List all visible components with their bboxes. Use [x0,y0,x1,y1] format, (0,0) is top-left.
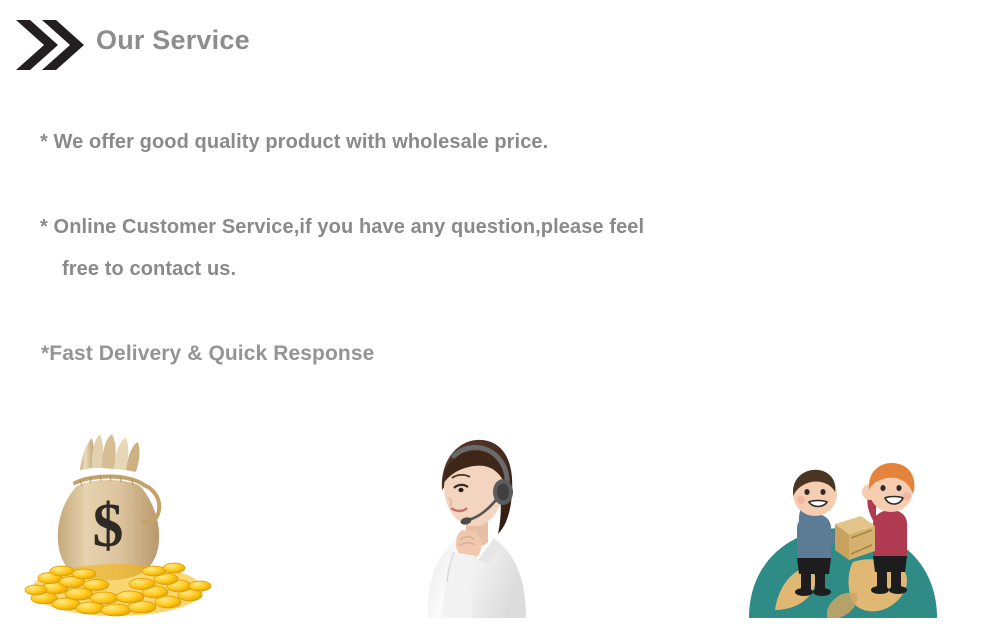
service-bullet-support-line2: free to contact us. [62,258,236,281]
double-chevron-right-icon [14,14,84,76]
gold-coin-pile [25,563,211,616]
service-bullet-quality: * We offer good quality product with who… [40,131,548,154]
customer-service-agent-image [410,426,530,618]
bag-neck [80,434,139,472]
our-service-panel: Our Service * We offer good quality prod… [0,0,1000,624]
global-delivery-illustration-image [735,450,950,618]
section-header: Our Service [0,0,1000,88]
dollar-sign-glyph: $ [93,492,124,560]
service-figures-row: $ [0,420,1000,624]
page-title: Our Service [96,25,250,56]
service-bullet-support-line1: * Online Customer Service,if you have an… [40,216,644,239]
money-bag-with-gold-coins-image: $ [22,428,222,618]
service-bullet-delivery: *Fast Delivery & Quick Response [41,342,374,366]
